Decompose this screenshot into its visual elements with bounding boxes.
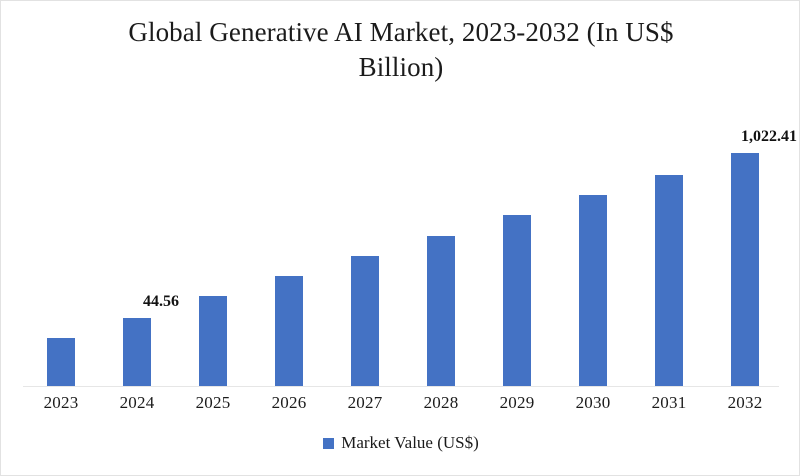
x-tick-label-2023: 2023 bbox=[23, 393, 99, 413]
bar-2024[interactable]: 44.56 bbox=[123, 318, 151, 386]
chart-legend: Market Value (US$) bbox=[1, 433, 800, 453]
plot-area: 44.561,022.41 bbox=[23, 111, 779, 387]
bar-2027[interactable] bbox=[351, 256, 379, 386]
legend-swatch-icon bbox=[323, 438, 334, 449]
bar-slot bbox=[479, 111, 555, 386]
bar-slot: 44.56 bbox=[99, 111, 175, 386]
bar-slot bbox=[175, 111, 251, 386]
bar-slot: 1,022.41 bbox=[707, 111, 783, 386]
bar-slot bbox=[327, 111, 403, 386]
bar-2031[interactable] bbox=[655, 175, 683, 386]
bar-value-label-2032: 1,022.41 bbox=[709, 128, 800, 146]
bar-slot bbox=[631, 111, 707, 386]
bar-2026[interactable] bbox=[275, 276, 303, 386]
chart-title: Global Generative AI Market, 2023-2032 (… bbox=[71, 15, 731, 84]
bar-slot bbox=[251, 111, 327, 386]
x-tick-label-2024: 2024 bbox=[99, 393, 175, 413]
x-tick-label-2027: 2027 bbox=[327, 393, 403, 413]
bar-2032[interactable]: 1,022.41 bbox=[731, 153, 759, 386]
x-tick-label-2025: 2025 bbox=[175, 393, 251, 413]
bar-slot bbox=[403, 111, 479, 386]
bar-slot bbox=[23, 111, 99, 386]
x-tick-label-2031: 2031 bbox=[631, 393, 707, 413]
x-axis-line bbox=[23, 386, 779, 387]
bar-2023[interactable] bbox=[47, 338, 75, 386]
x-tick-label-2030: 2030 bbox=[555, 393, 631, 413]
x-tick-label-2032: 2032 bbox=[707, 393, 783, 413]
legend-label: Market Value (US$) bbox=[341, 433, 479, 453]
bar-2028[interactable] bbox=[427, 236, 455, 386]
x-tick-label-2029: 2029 bbox=[479, 393, 555, 413]
bar-2025[interactable] bbox=[199, 296, 227, 386]
bar-slot bbox=[555, 111, 631, 386]
x-tick-label-2026: 2026 bbox=[251, 393, 327, 413]
x-axis-tick-labels: 2023202420252026202720282029203020312032 bbox=[23, 393, 779, 421]
x-tick-label-2028: 2028 bbox=[403, 393, 479, 413]
bar-2030[interactable] bbox=[579, 195, 607, 386]
bar-2029[interactable] bbox=[503, 215, 531, 386]
chart-card: Global Generative AI Market, 2023-2032 (… bbox=[0, 0, 800, 476]
